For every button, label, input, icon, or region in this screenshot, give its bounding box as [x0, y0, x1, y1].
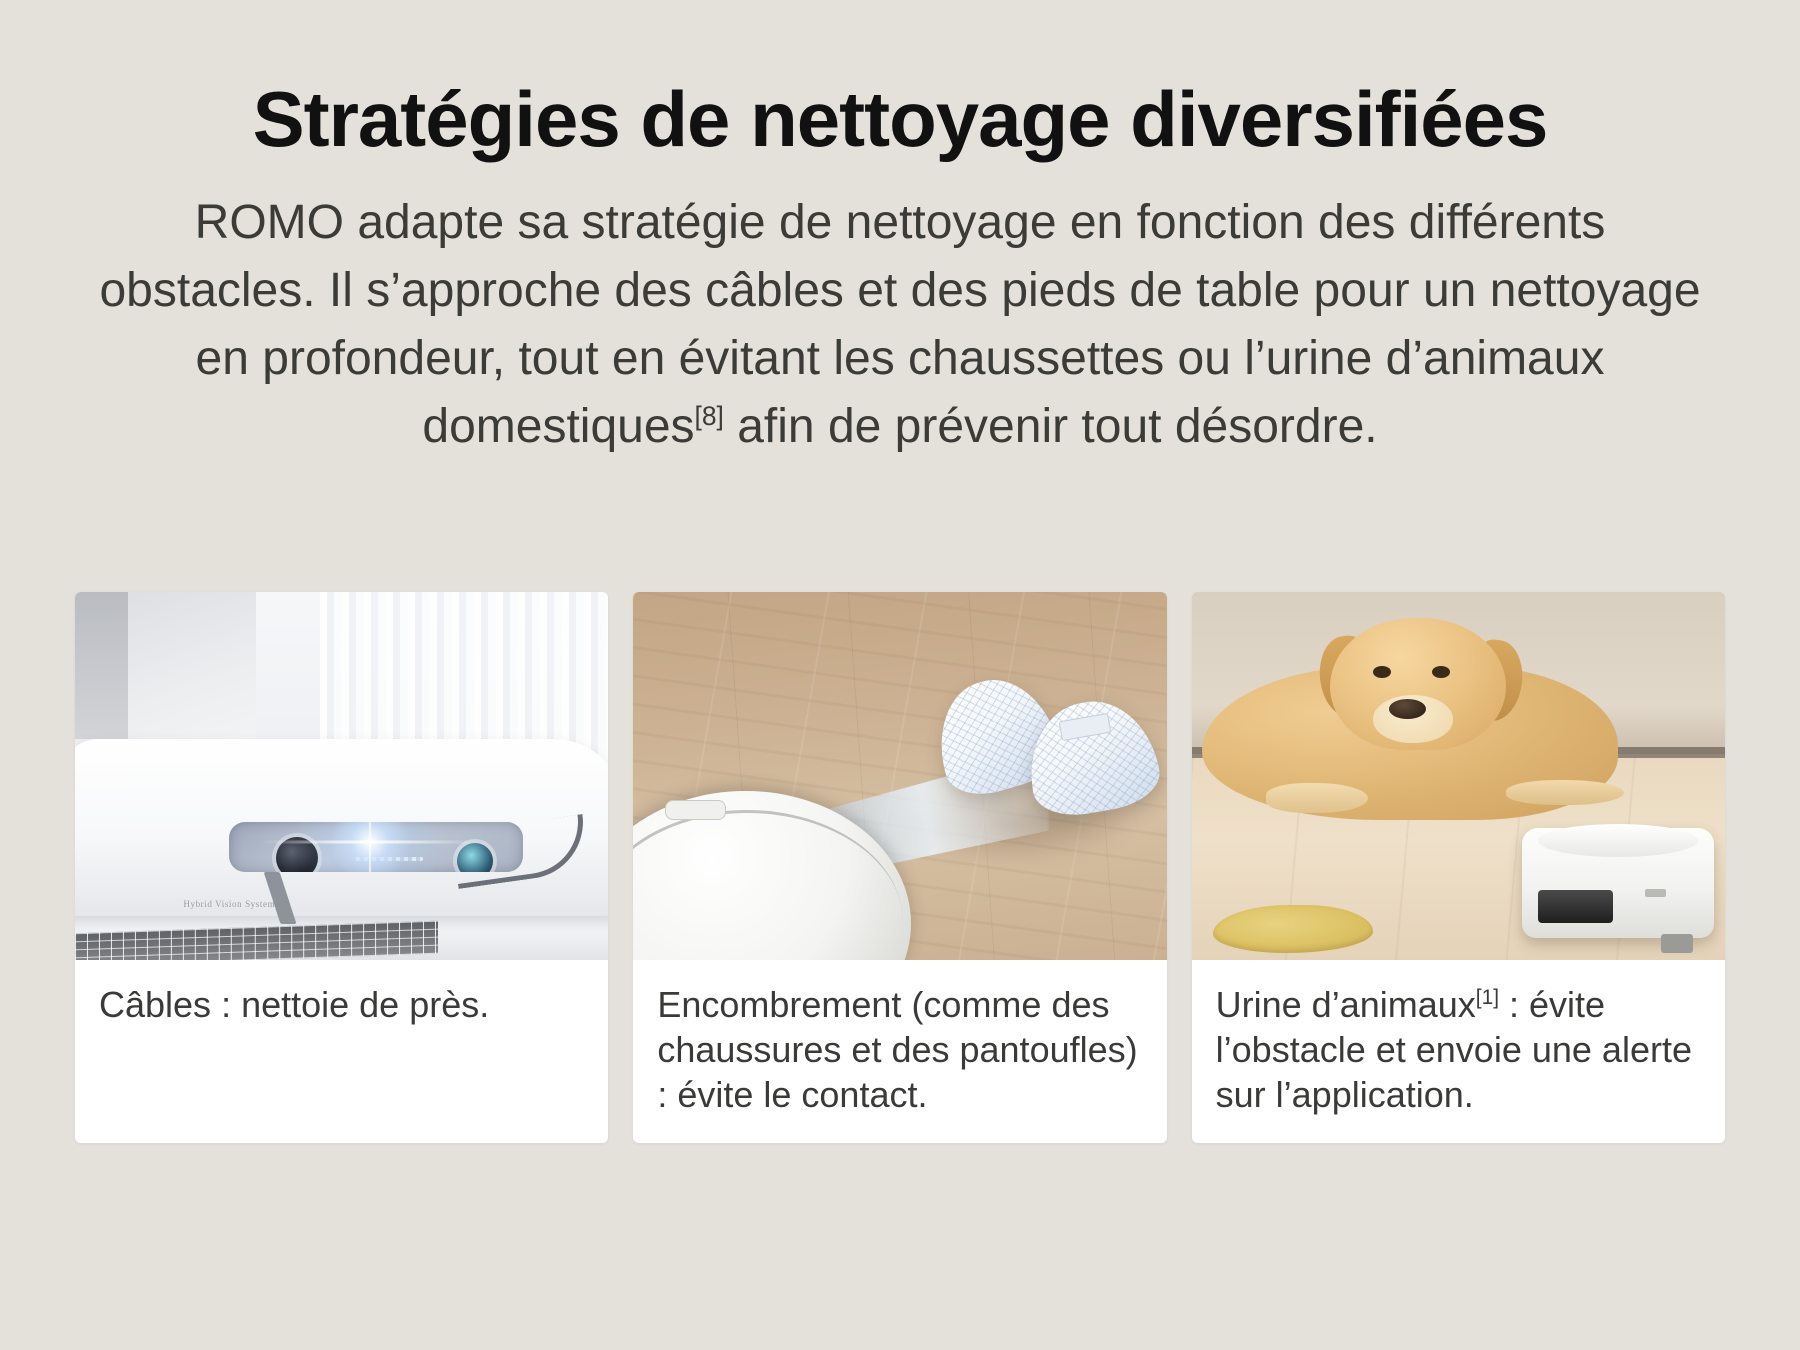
- dog-paw-right-shape: [1506, 780, 1623, 806]
- dog-nose-shape: [1389, 699, 1426, 719]
- urine-puddle-shape: [1213, 905, 1373, 953]
- subtitle-text-part2: afin de prévenir tout désordre.: [724, 400, 1378, 453]
- slipper-shape-right: [1019, 692, 1164, 823]
- robot-sensor-window-shape: [1538, 890, 1613, 923]
- robot-wheel-shape: [1661, 934, 1693, 952]
- caption-text-part1: Urine d’animaux: [1216, 984, 1476, 1025]
- card-urine-animaux[interactable]: Urine d’animaux[1] : évite l’obstacle et…: [1192, 592, 1725, 1143]
- card-grid: Hybrid Vision System Câbles : nettoie de…: [75, 592, 1725, 1143]
- light-flare-shape: [295, 822, 445, 871]
- robot-top-shape: [1538, 824, 1698, 857]
- caption-encombrement: Encombrement (comme des chaussures et de…: [633, 960, 1166, 1143]
- page-subtitle: ROMO adapte sa stratégie de nettoyage en…: [80, 189, 1720, 462]
- subtitle-reference-8: [8]: [695, 401, 724, 431]
- slide-root: Stratégies de nettoyage diversifiées ROM…: [0, 0, 1800, 1350]
- card-encombrement[interactable]: Encombrement (comme des chaussures et de…: [633, 592, 1166, 1143]
- image-cables: Hybrid Vision System: [75, 592, 608, 960]
- card-cables[interactable]: Hybrid Vision System Câbles : nettoie de…: [75, 592, 608, 1143]
- caption-cables: Câbles : nettoie de près.: [75, 960, 608, 1143]
- dog-eye-left-shape: [1373, 666, 1391, 679]
- wall-shadow-shape: [75, 592, 128, 739]
- robot-led-icon: [1645, 889, 1666, 898]
- image-encombrement: [633, 592, 1166, 960]
- page-title: Stratégies de nettoyage diversifiées: [70, 78, 1730, 161]
- sensor-module-label: Hybrid Vision System: [183, 899, 275, 909]
- dog-eye-right-shape: [1432, 666, 1450, 679]
- caption-urine-animaux: Urine d’animaux[1] : évite l’obstacle et…: [1192, 960, 1725, 1143]
- robot-button-icon: [665, 800, 726, 820]
- slide-header: Stratégies de nettoyage diversifiées ROM…: [0, 0, 1800, 461]
- caption-reference-1: [1]: [1476, 986, 1499, 1009]
- image-urine-animaux: [1192, 592, 1725, 960]
- dog-paw-left-shape: [1266, 783, 1367, 812]
